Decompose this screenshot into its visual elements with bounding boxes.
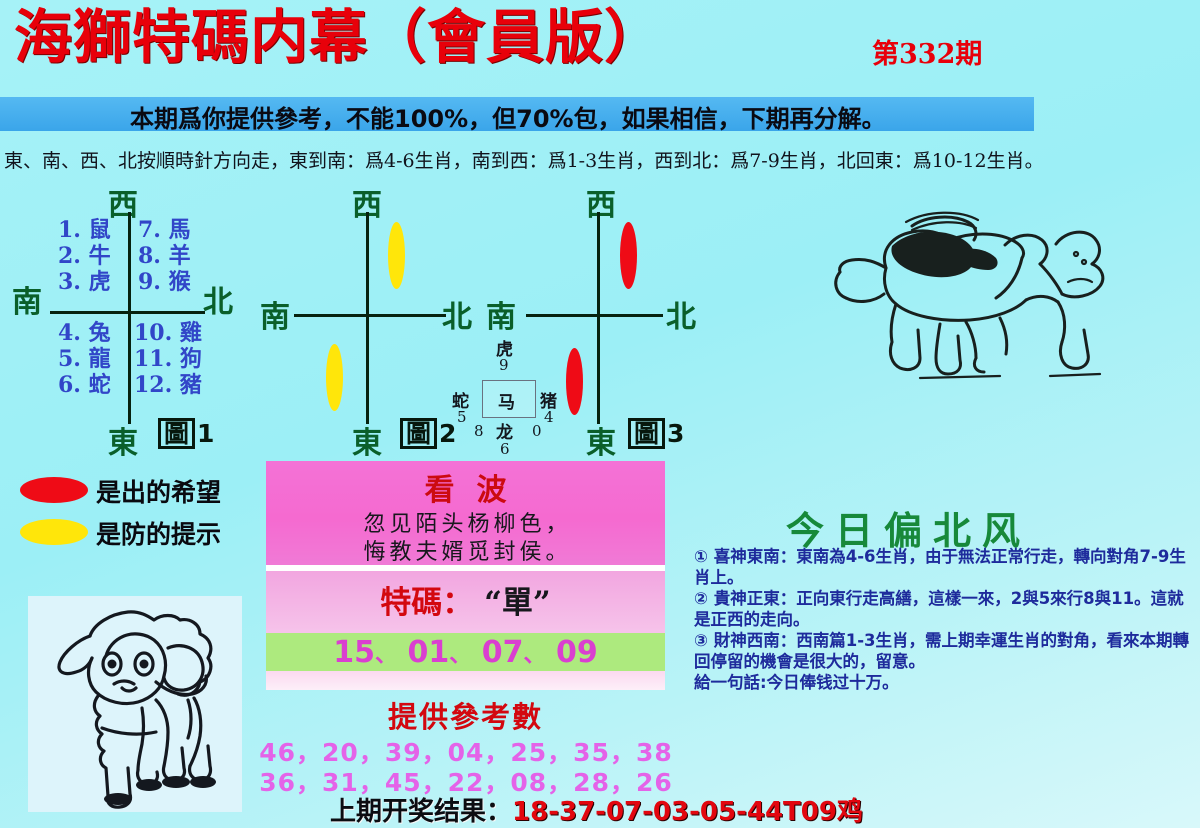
page-title: 海獅特碼内幕（會員版） [14,8,663,66]
legend-yellow-label: 是防的提示 [96,515,221,551]
lucky-number: 15 [333,635,375,670]
fig3-vertical-axis [597,212,600,424]
fig3-west-label: 西 [586,180,616,224]
reference-numbers-header: 提供參考數 [266,694,665,736]
tema-label: 特碼： [380,585,473,621]
fig1-west-label: 西 [108,180,138,224]
fig1-zodiac-right-upper: 7. 馬 8. 羊 9. 猴 [138,217,191,295]
zodiac-item: 4. 兔 [58,320,111,346]
poem-line-2: 悔教夫婿觅封侯。 [266,534,665,566]
sheep-illustration [28,596,242,812]
number-separator: 、 [449,643,471,668]
note-item: ② 貴神正東：正向東行走高繕，這樣一來，2與5來行8與11。這就是正西的走向。 [694,588,1194,630]
fig2-marker-yellow-lower [326,344,343,411]
zodiac-item: 2. 牛 [58,243,111,269]
fig2-horizontal-axis [294,314,446,317]
fig1-caption: 圖1 [158,418,214,449]
zodiac-item: 8. 羊 [138,243,191,269]
mini-center-animal: 马 [498,388,515,413]
figure-1: 西 南 北 東 1. 鼠 2. 牛 3. 虎 7. 馬 8. 羊 9. 猴 4.… [0,180,250,465]
banner-text: 本期爲你提供參考，不能100%，但70%包，如果相信，下期再分解。 [130,99,1030,134]
zodiac-item: 9. 猴 [138,269,191,295]
fig3-north-label: 北 [666,292,696,336]
lucky-numbers-row: 15、 01、 07、 09 [266,635,665,670]
fig3-caption-num: 3 [667,419,684,448]
fig1-zodiac-left-lower: 4. 兔 5. 龍 6. 蛇 [58,320,111,398]
fig1-vertical-axis [128,212,131,424]
fig1-zodiac-left-upper: 1. 鼠 2. 牛 3. 虎 [58,217,111,295]
last-draw-result: 上期开奖结果：18-37-07-03-05-44T09鸡 [330,791,863,828]
fig1-horizontal-axis [50,311,205,314]
mini-top-number: 9 [499,356,509,374]
zodiac-item: 11. 狗 [134,346,202,372]
poster-canvas: 海獅特碼内幕（會員版） 第332期 本期爲你提供參考，不能100%，但70%包，… [0,0,1200,828]
fig3-caption-box: 圖 [628,418,665,449]
mini-right-number: 4 [544,408,554,426]
fig1-zodiac-right-lower: 10. 雞 11. 狗 12. 豬 [134,320,202,398]
note-item: 給一句話:今日俸钱过十万。 [694,672,1194,693]
last-draw-value: 18-37-07-03-05-44T09鸡 [512,797,863,827]
forecast-panel: 看波 忽见陌头杨柳色， 悔教夫婿觅封侯。 特碼： “單” 15、 01、 07、… [266,461,665,690]
mini-bottom-number: 6 [500,440,510,458]
number-separator: 、 [375,643,397,668]
fig1-caption-box: 圖 [158,418,195,449]
fig2-vertical-axis [366,212,369,424]
legend-yellow-oval [20,519,88,545]
kanbo-title: 看波 [266,465,665,509]
note-item: ③ 財神西南：西南篇1-3生肖，需上期幸運生肖的對角，看來本期轉回停留的機會是很… [694,630,1194,672]
fig2-east-label: 東 [352,418,382,462]
number-separator: 、 [523,643,545,668]
zodiac-item: 10. 雞 [134,320,202,346]
mini-corner-right-number: 0 [532,422,542,440]
issue-number: 第332期 [872,32,982,71]
mini-corner-left-number: 8 [474,422,484,440]
tema-value: “單” [484,585,551,621]
mini-zodiac-grid: 虎 9 马 蛇 5 猪 4 8 龙 0 6 [440,330,580,460]
fig3-caption: 圖3 [628,418,684,449]
notes-block: ① 喜神東南：東南為4-6生肖，由于無法正常行走，轉向對角7-9生肖上。 ② 貴… [694,546,1194,693]
zodiac-item: 5. 龍 [58,346,111,372]
fig3-marker-red-upper [620,222,637,289]
lucky-number: 01 [408,635,450,670]
direction-rule-text: 東、南、西、北按順時針方向走，東到南：爲4-6生肖，南到西：爲1-3生肖，西到北… [4,146,1196,173]
fig1-south-label: 南 [12,277,42,321]
fig2-south-label: 南 [260,292,290,336]
fig2-marker-yellow-upper [388,222,405,289]
mini-left-number: 5 [457,408,467,426]
zodiac-item: 6. 蛇 [58,372,111,398]
panel-band-footer [266,671,665,690]
fig3-horizontal-axis [526,314,663,317]
zodiac-item: 1. 鼠 [58,217,111,243]
lucky-number: 07 [482,635,524,670]
legend-red-oval [20,477,88,503]
zodiac-item: 3. 虎 [58,269,111,295]
fig1-north-label: 北 [203,277,233,321]
ox-illustration [800,190,1190,410]
fig1-caption-num: 1 [197,419,214,448]
zodiac-item: 7. 馬 [138,217,191,243]
legend-red-label: 是出的希望 [96,473,221,509]
tema-row: 特碼： “單” [266,577,665,622]
zodiac-item: 12. 豬 [134,372,202,398]
fig1-east-label: 東 [108,418,138,462]
last-draw-label: 上期开奖结果： [330,797,512,827]
lucky-number: 09 [556,635,598,670]
fig2-caption-box: 圖 [400,418,437,449]
note-item: ① 喜神東南：東南為4-6生肖，由于無法正常行走，轉向對角7-9生肖上。 [694,546,1194,588]
fig3-east-label: 東 [586,418,616,462]
